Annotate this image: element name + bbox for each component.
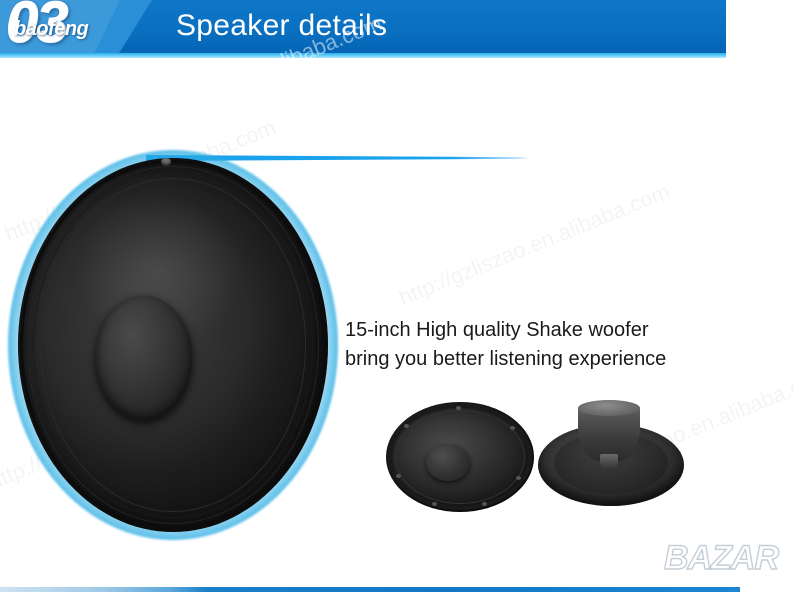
mounting-screw	[516, 476, 521, 480]
speaker-terminal	[161, 158, 171, 166]
brand-logo: baofeng	[14, 18, 88, 41]
small-speaker-front-image	[386, 402, 534, 512]
header-bar: 03 baofeng Speaker details	[0, 0, 726, 58]
slide-canvas: 03 baofeng Speaker details http://gzlisz…	[0, 0, 794, 600]
product-description: 15-inch High quality Shake woofer bring …	[345, 316, 745, 374]
large-speaker-image	[8, 150, 338, 540]
mounting-screw	[432, 502, 437, 506]
speaker-magnet-top	[578, 400, 640, 416]
mounting-screw	[510, 426, 515, 430]
mounting-screw	[396, 474, 401, 478]
speaker-pole-piece	[600, 454, 618, 470]
small-speaker-back-image	[538, 398, 684, 510]
mounting-screw	[482, 502, 487, 506]
bazar-watermark-logo: BAZAR	[664, 539, 778, 578]
footer-bar	[0, 587, 740, 592]
description-line-2: bring you better listening experience	[345, 345, 745, 374]
mounting-screw	[456, 406, 461, 410]
description-line-1: 15-inch High quality Shake woofer	[345, 316, 745, 345]
mounting-screw	[404, 424, 409, 428]
speaker-dust-cap	[96, 296, 192, 419]
page-title: Speaker details	[176, 9, 387, 43]
watermark-url: http://gzliszao.en.alibaba.com	[395, 178, 673, 311]
speaker-cone	[18, 158, 328, 532]
